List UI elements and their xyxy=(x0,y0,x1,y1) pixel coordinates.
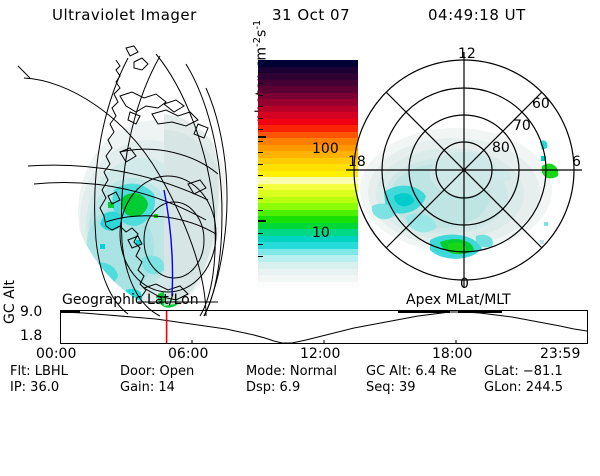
status-gc-alt: GC Alt: 6.4 Re xyxy=(366,364,457,379)
colorbar-minor-tick xyxy=(258,256,263,257)
colorbar-minor-tick xyxy=(258,129,263,130)
colorbar-title-exp2: -1 xyxy=(252,20,263,30)
polar-grid xyxy=(346,52,582,288)
status-gain: Gain: 14 xyxy=(120,380,175,395)
colorbar-gradient-box xyxy=(258,60,276,269)
colorbar-minor-tick xyxy=(258,233,263,234)
colorbar-minor-tick xyxy=(258,95,263,96)
geographic-plot-svg xyxy=(8,44,256,296)
status-ip: IP: 36.0 xyxy=(10,380,59,395)
colorbar-minor-tick xyxy=(258,164,263,165)
orbit-xtick-0600: 06:00 xyxy=(168,346,208,362)
colorbar[interactable]: photon cm-2s-1 10010 xyxy=(258,60,358,295)
colorbar-minor-tick xyxy=(258,118,263,119)
apex-polar-panel[interactable]: 12 18 6 0 60 70 80 xyxy=(344,44,600,296)
orbit-ytick-low: 1.8 xyxy=(20,328,42,344)
polar-mlt-label-12: 12 xyxy=(458,46,476,62)
header-bar: Ultraviolet Imager 31 Oct 07 04:49:18 UT xyxy=(0,6,600,32)
orbit-altitude-plot[interactable]: GC Alt 9.0 1.8 00:00 06:00 xyxy=(0,306,600,358)
geographic-image-panel[interactable] xyxy=(8,44,256,296)
orbit-xtick-1200: 12:00 xyxy=(300,346,340,362)
page-title: Ultraviolet Imager xyxy=(52,6,197,24)
status-glat: GLat: −81.1 xyxy=(484,364,563,379)
colorbar-tick-label-0: 100 xyxy=(312,141,339,157)
colorbar-minor-tick xyxy=(258,72,263,73)
orbit-x-tick-marks xyxy=(192,340,456,343)
orbit-y-axis-title: GC Alt xyxy=(2,306,20,346)
status-bar: Flt: LBHL IP: 36.0 Door: Open Gain: 14 M… xyxy=(0,364,600,398)
orbit-plot-box xyxy=(60,310,588,344)
colorbar-title-exp1: -2 xyxy=(252,37,263,47)
orbit-xtick-2359: 23:59 xyxy=(540,346,580,362)
colorbar-minor-tick xyxy=(258,83,263,84)
colorbar-minor-tick xyxy=(258,187,263,188)
gc-altitude-trace xyxy=(60,312,587,343)
colorbar-major-tick xyxy=(258,220,266,222)
colorbar-minor-tick xyxy=(258,210,263,211)
colorbar-tick-label-1: 10 xyxy=(312,225,330,241)
colorbar-minor-tick xyxy=(258,198,263,199)
colorbar-title-mid: s xyxy=(254,30,270,37)
orbit-plot-svg xyxy=(60,310,588,344)
polar-mlt-label-18: 18 xyxy=(348,154,366,170)
orbit-x-axis-labels: 00:00 06:00 12:00 18:00 23:59 xyxy=(0,346,600,360)
status-flight: Flt: LBHL xyxy=(10,364,68,379)
colorbar-minor-tick xyxy=(258,244,263,245)
polar-lat-label-70: 70 xyxy=(513,118,531,134)
colorbar-gradient xyxy=(258,60,358,295)
status-mode: Mode: Normal xyxy=(246,364,337,379)
colorbar-minor-tick xyxy=(258,141,263,142)
status-door: Door: Open xyxy=(120,364,194,379)
colorbar-major-tick xyxy=(258,136,266,138)
colorbar-minor-tick xyxy=(258,106,263,107)
polar-mlt-label-0: 0 xyxy=(460,276,469,292)
colorbar-band-35 xyxy=(258,288,358,295)
polar-mlt-label-6: 6 xyxy=(572,154,581,170)
orbit-xtick-1800: 18:00 xyxy=(432,346,472,362)
colorbar-minor-tick xyxy=(258,152,263,153)
polar-plot-svg xyxy=(344,44,600,296)
orbit-ytick-high: 9.0 xyxy=(20,304,42,320)
colorbar-minor-tick xyxy=(258,175,263,176)
orbit-xtick-0000: 00:00 xyxy=(36,346,76,362)
observation-time: 04:49:18 UT xyxy=(428,6,526,24)
aurora-emission-polar xyxy=(360,128,558,260)
polar-lat-label-80: 80 xyxy=(492,140,510,156)
polar-lat-label-60: 60 xyxy=(532,96,550,112)
status-seq: Seq: 39 xyxy=(366,380,416,395)
status-dsp: Dsp: 6.9 xyxy=(246,380,300,395)
status-glon: GLon: 244.5 xyxy=(484,380,563,395)
orbit-y-axis-title-text: GC Alt xyxy=(2,280,18,324)
observation-date: 31 Oct 07 xyxy=(272,6,350,24)
